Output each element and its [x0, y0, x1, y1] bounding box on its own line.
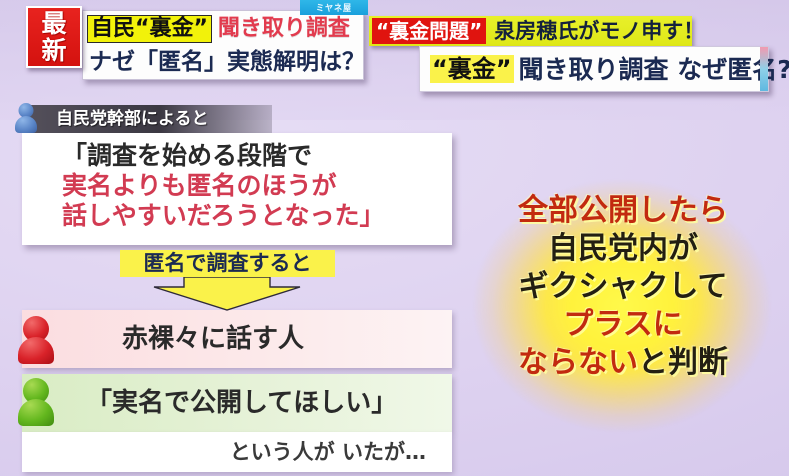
program-logo: ミヤネ屋: [300, 0, 368, 15]
quote-line-3: 話しやすいだろうとなった」: [62, 201, 385, 231]
down-arrow-icon: [152, 277, 302, 311]
telop-line-1: 全部公開したら: [468, 192, 778, 230]
main-headline-text: 聞き取り調査: [218, 16, 350, 42]
latest-badge: 最 新: [26, 6, 82, 68]
telop-line-5-part-b: と判断: [638, 345, 728, 380]
footer-note-strip: という人が いたが…: [22, 432, 452, 472]
person-icon-green: [18, 378, 54, 426]
latest-badge-char-2: 新: [41, 37, 66, 64]
source-attribution-label: 自民党幹部によると: [56, 109, 209, 130]
latest-badge-char-1: 最: [41, 10, 66, 37]
result-row-green-text: 「実名で公開してほしい」: [86, 388, 397, 418]
source-attribution-bar: 自民党幹部によると: [22, 105, 272, 133]
secondary-headline-tag: “裏金問題”: [372, 18, 486, 44]
result-row-red-text: 赤裸々に話す人: [122, 324, 304, 354]
telop-line-2: 自民党内が: [468, 230, 778, 268]
question-headline-text: 聞き取り調査 なぜ匿名?: [519, 55, 789, 84]
person-icon-blue: [15, 103, 37, 133]
main-headline-line-1: 自民“裏金” 聞き取り調査: [87, 14, 350, 44]
quote-card: 「調査を始める段階で 実名よりも匿名のほうが 話しやすいだろうとなった」: [22, 133, 452, 245]
transition-label-text: 匿名で調査すると: [144, 251, 312, 276]
person-icon-body: [18, 337, 54, 364]
person-icon-body: [15, 116, 37, 133]
main-headline-tag: 自民“裏金”: [87, 15, 212, 43]
telop-line-5-part-a: ならない: [518, 345, 638, 380]
program-logo-label: ミヤネ屋: [316, 1, 352, 14]
secondary-headline-text: 泉房穂氏がモノ申す！: [494, 19, 704, 44]
quote-line-2: 実名よりも匿名のほうが: [62, 171, 337, 201]
transition-label: 匿名で調査すると: [120, 250, 335, 277]
telop-line-3: ギクシャクして: [468, 268, 778, 306]
person-icon-red: [18, 316, 54, 364]
main-headline-subtext: ナゼ「匿名」実態解明は？: [89, 49, 365, 76]
secondary-headline-bar: “裏金問題” 泉房穂氏がモノ申す！: [369, 16, 692, 46]
question-headline-tag: “裏金”: [430, 55, 514, 83]
main-headline-box: 自民“裏金” 聞き取り調査 ナゼ「匿名」実態解明は？: [82, 10, 364, 80]
quote-line-1: 「調査を始める段階で: [62, 141, 312, 171]
telop-line-4: プラスに: [468, 306, 778, 344]
result-row-red: 赤裸々に話す人: [22, 310, 452, 368]
telop-line-5: ならないと判断: [468, 344, 778, 382]
question-headline-box: “裏金” 聞き取り調査 なぜ匿名?: [419, 46, 769, 92]
telop-block: 全部公開したら 自民党内が ギクシャクして プラスに ならないと判断: [468, 192, 778, 382]
person-icon-body: [18, 399, 54, 426]
main-headline-line-2: ナゼ「匿名」実態解明は？: [89, 46, 365, 78]
footer-note-text: という人が いたが…: [230, 440, 426, 465]
result-row-green: 「実名で公開してほしい」: [22, 374, 452, 432]
headline-color-stripe: [760, 47, 768, 91]
